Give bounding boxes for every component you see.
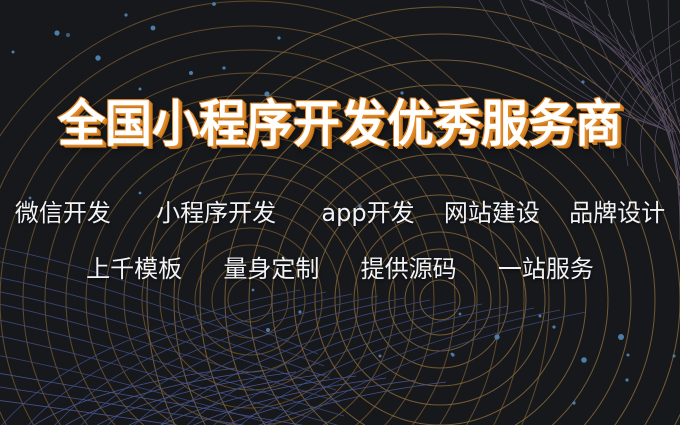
service-tag-website-build: 网站建设 (444, 198, 540, 228)
feature-tag-custom-made: 量身定制 (223, 254, 319, 284)
service-list-row-2: 上千模板 量身定制 提供源码 一站服务 (0, 254, 680, 284)
service-tag-app-dev: app开发 (321, 198, 414, 228)
promo-banner: 全国小程序开发优秀服务商 微信开发 小程序开发 app开发 网站建设 品牌设计 … (0, 0, 680, 425)
page-title: 全国小程序开发优秀服务商 (58, 97, 622, 152)
feature-tag-templates: 上千模板 (86, 254, 182, 284)
feature-tag-one-stop-service: 一站服务 (498, 254, 594, 284)
service-list-row-1: 微信开发 小程序开发 app开发 网站建设 品牌设计 (0, 198, 680, 228)
service-tag-miniprogram-dev: 小程序开发 (156, 198, 276, 228)
service-tag-brand-design: 品牌设计 (569, 198, 665, 228)
banner-title-container: 全国小程序开发优秀服务商 (0, 99, 680, 151)
feature-tag-source-code: 提供源码 (361, 254, 457, 284)
service-tag-wechat-dev: 微信开发 (15, 198, 111, 228)
